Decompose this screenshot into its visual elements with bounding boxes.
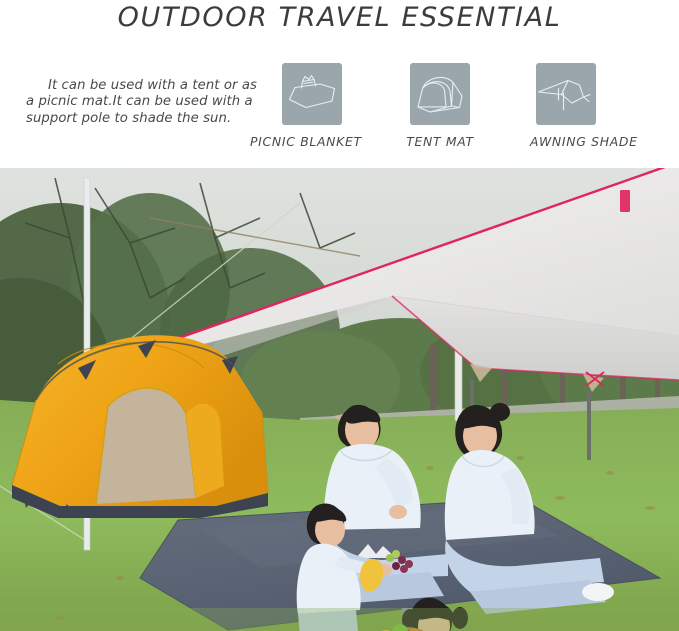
awning-shade-tile	[536, 63, 596, 125]
feature-label: TENT MAT	[394, 134, 486, 149]
campsite-scene	[0, 168, 679, 631]
feature-tent-mat: TENT MAT	[394, 63, 486, 149]
product-lifestyle-photo	[0, 168, 679, 631]
feature-label: AWNING SHADE	[530, 134, 612, 149]
picnic-blanket-icon	[282, 63, 342, 125]
description-text: It can be used with a tent or as a picni…	[26, 78, 258, 127]
feature-picnic-blanket: PICNIC BLANKET	[266, 63, 358, 149]
picnic-blanket-tile	[282, 63, 342, 125]
feature-label: PICNIC BLANKET	[250, 134, 358, 149]
tent-icon	[410, 63, 470, 125]
product-infographic: OUTDOOR TRAVEL ESSENTIAL It can be used …	[0, 0, 679, 631]
awning-shade-icon	[536, 63, 596, 125]
tent-mat-tile	[410, 63, 470, 125]
feature-awning-shade: AWNING SHADE	[520, 63, 612, 149]
page-title: OUTDOOR TRAVEL ESSENTIAL	[0, 2, 679, 33]
header-section: OUTDOOR TRAVEL ESSENTIAL It can be used …	[0, 0, 679, 168]
